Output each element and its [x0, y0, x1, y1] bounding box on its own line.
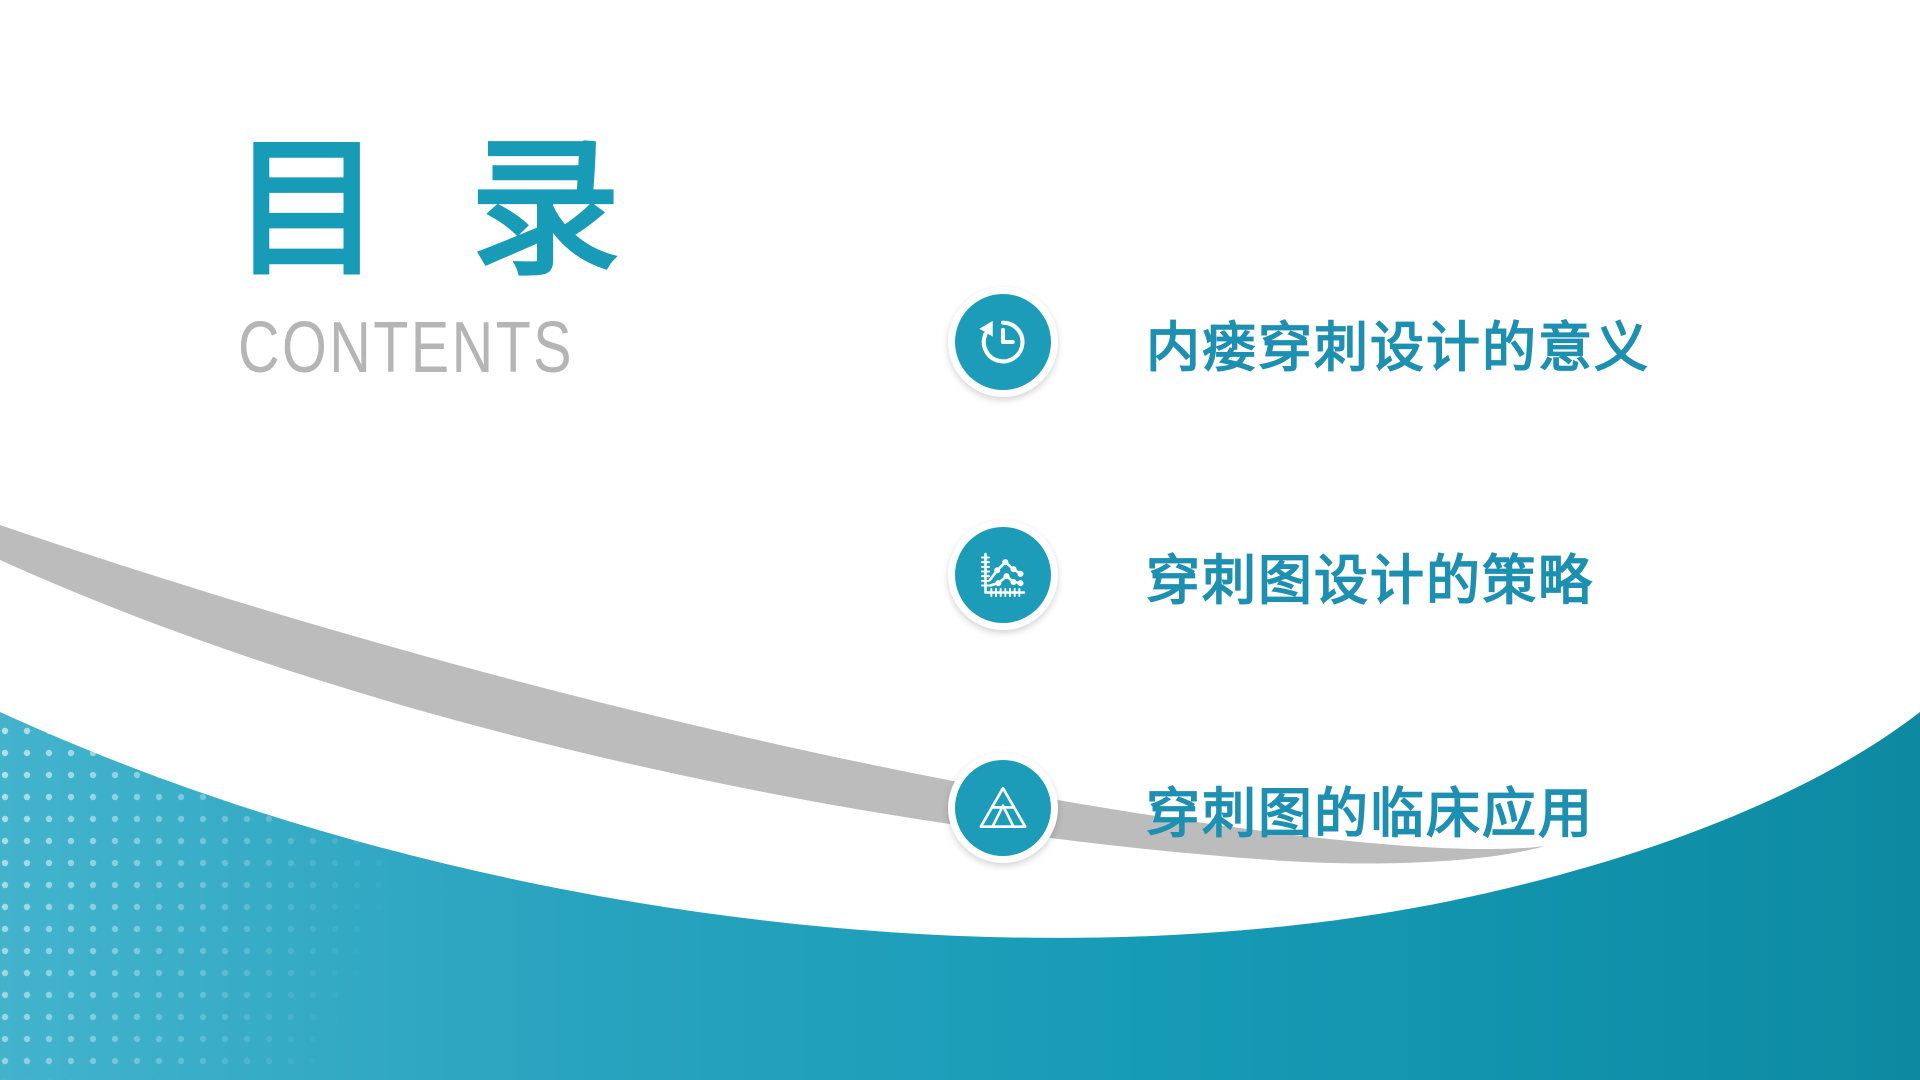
slide-root: 目 录 CONTENTS 内瘘穿刺设计的意义	[0, 0, 1920, 1080]
contents-item-1-label: 内瘘穿刺设计的意义	[1146, 303, 1650, 382]
contents-icon-3-wrapper[interactable]	[948, 753, 1058, 863]
contents-icon-2-wrapper[interactable]	[948, 520, 1058, 630]
contents-item-3-label: 穿刺图的临床应用	[1146, 769, 1594, 848]
contents-list: 内瘘穿刺设计的意义	[948, 282, 1828, 868]
contents-item-2-label: 穿刺图设计的策略	[1146, 536, 1594, 615]
line-chart-icon	[955, 527, 1051, 623]
contents-icon-1-wrapper[interactable]	[948, 287, 1058, 397]
triangle-subdivision-icon	[955, 760, 1051, 856]
page-subtitle: CONTENTS	[238, 312, 569, 384]
page-title: 目 录	[232, 128, 652, 290]
contents-item-1[interactable]: 内瘘穿刺设计的意义	[948, 282, 1828, 402]
halftone-dots-bottom-left	[0, 690, 420, 1080]
history-clock-icon	[955, 294, 1051, 390]
title-block: 目 录 CONTENTS	[232, 128, 652, 384]
contents-item-2[interactable]: 穿刺图设计的策略	[948, 515, 1828, 635]
contents-item-3[interactable]: 穿刺图的临床应用	[948, 748, 1828, 868]
